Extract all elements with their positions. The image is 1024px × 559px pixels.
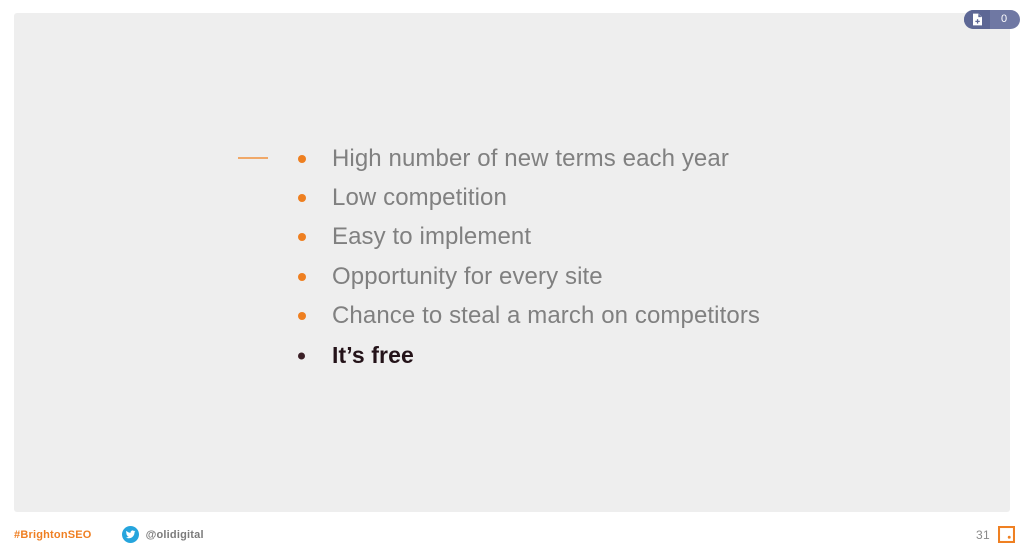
list-item: Opportunity for every site	[298, 257, 938, 296]
footer-right-group: 31	[976, 526, 1015, 543]
bullet-dot-icon	[298, 194, 306, 202]
list-item: Low competition	[298, 178, 938, 217]
bullet-dot-icon	[298, 273, 306, 281]
note-count-badge[interactable]: 0	[964, 10, 1020, 29]
document-add-icon[interactable]	[964, 10, 990, 29]
list-item: High number of new terms each year	[298, 139, 938, 178]
bullet-dot-icon	[298, 352, 305, 359]
bullet-list-block: High number of new terms each year Low c…	[238, 139, 938, 375]
list-item-emphasis: It’s free	[298, 336, 938, 375]
bullet-text: High number of new terms each year	[298, 147, 729, 171]
list-item: Chance to steal a march on competitors	[298, 297, 938, 336]
bullet-text: Low competition	[298, 186, 507, 210]
bullet-text: Opportunity for every site	[298, 265, 603, 289]
bullet-text: Easy to implement	[298, 225, 531, 249]
bullet-dot-icon	[298, 155, 306, 163]
brand-square-logo-icon	[998, 526, 1015, 543]
note-count-value: 0	[990, 10, 1020, 29]
page-number: 31	[976, 528, 990, 542]
bullet-dot-icon	[298, 312, 306, 320]
event-hashtag: #BrightonSEO	[14, 529, 92, 541]
twitter-handle: @olidigital	[146, 529, 204, 541]
twitter-bird-icon[interactable]	[122, 526, 139, 543]
bullet-list: High number of new terms each year Low c…	[238, 139, 938, 375]
footer-bar: #BrightonSEO @olidigital 31	[0, 512, 1024, 559]
slide-panel: High number of new terms each year Low c…	[14, 13, 1010, 512]
list-item: Easy to implement	[298, 218, 938, 257]
footer-left-group: #BrightonSEO @olidigital	[14, 526, 204, 543]
dash-marker-icon	[238, 157, 268, 159]
bullet-text: It’s free	[298, 344, 414, 367]
bullet-text: Chance to steal a march on competitors	[298, 304, 760, 328]
bullet-dot-icon	[298, 233, 306, 241]
